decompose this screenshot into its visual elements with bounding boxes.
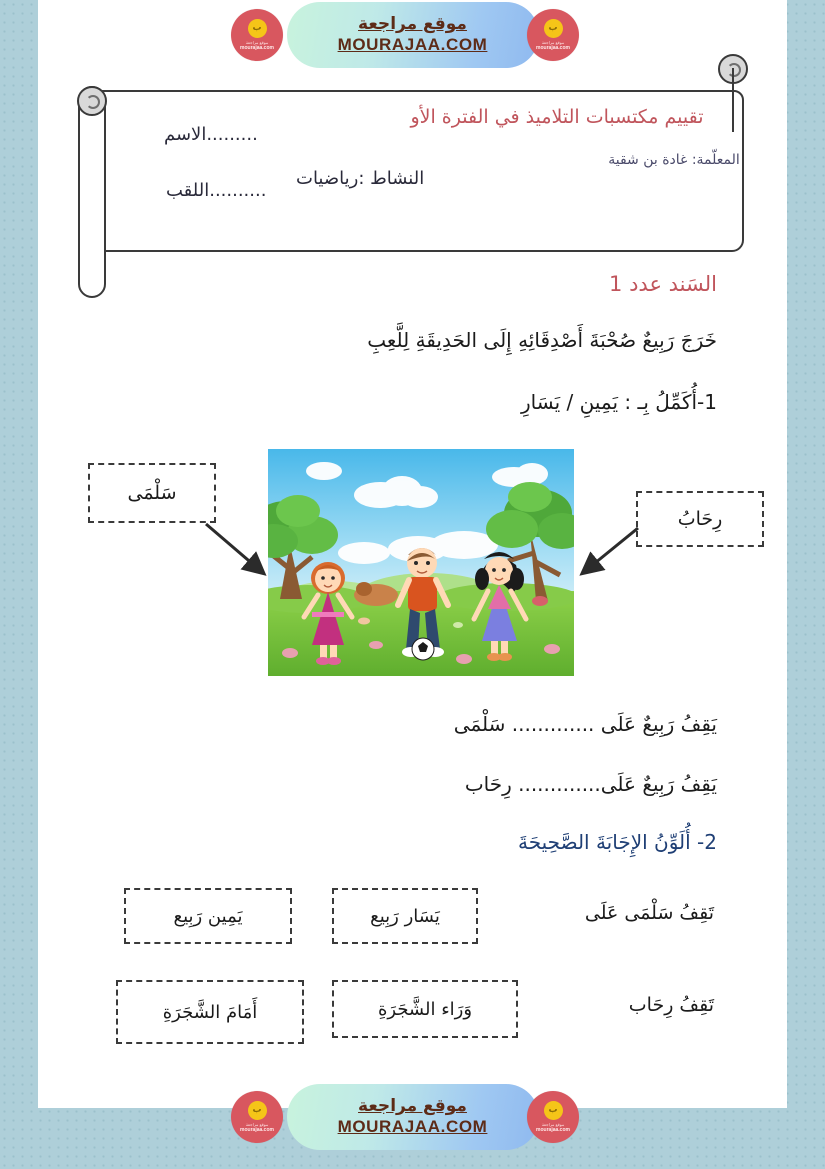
- teacher-name: المعلّمة: غادة بن شقية: [608, 150, 740, 172]
- promo-banner-bottom: ب موقع مراجعة mourajaa.com موقع مراجعة M…: [0, 1082, 825, 1152]
- logo-emblem-icon: ب: [248, 19, 267, 38]
- choice-prompt-1: تَقِفُ سَلْمَى عَلَى: [585, 902, 714, 924]
- choice-option-1b[interactable]: يَمِين رَبِيع: [124, 888, 292, 944]
- header-scroll-frame: تقييم مكتسبات التلاميذ في الفترة الأو ال…: [94, 90, 744, 252]
- header-content: تقييم مكتسبات التلاميذ في الفترة الأو ال…: [96, 92, 742, 250]
- choice-prompt-2: تَقِفُ رِحَاب: [629, 994, 714, 1016]
- promo-arabic-label-bottom: موقع مراجعة: [358, 1097, 467, 1116]
- label-box-salma[interactable]: سَلْمَى: [88, 463, 216, 523]
- promo-pill-top[interactable]: موقع مراجعة MOURAJAA.COM: [287, 2, 539, 68]
- scroll-spine-left: [78, 86, 106, 298]
- activity-label: النشاط :رياضيات: [296, 168, 424, 189]
- question-1-prompt: 1-أُكَمِّلُ بِـ : يَمِينِ / يَسَارِ: [521, 390, 717, 414]
- promo-site-link-top[interactable]: MOURAJAA.COM: [338, 35, 488, 55]
- scroll-curl-icon-left: [77, 86, 107, 116]
- student-surname-field-label[interactable]: ..........اللقب: [166, 180, 266, 201]
- promo-banner-top: ب موقع مراجعة mourajaa.com موقع مراجعة M…: [0, 0, 825, 70]
- header-scroll: تقييم مكتسبات التلاميذ في الفترة الأو ال…: [72, 82, 754, 264]
- scroll-tail-right: [732, 68, 734, 132]
- logo-caption-left: موقع مراجعة mourajaa.com: [240, 40, 274, 52]
- choice-option-2a[interactable]: وَرَاء الشَّجَرَةِ: [332, 980, 518, 1038]
- promo-pill-bottom[interactable]: موقع مراجعة MOURAJAA.COM: [287, 1084, 539, 1150]
- choice-option-2b[interactable]: أَمَامَ الشَّجَرَةِ: [116, 980, 304, 1044]
- logo-caption-right: موقع مراجعة mourajaa.com: [536, 1122, 570, 1134]
- arrow-icon-rihab: [576, 520, 646, 592]
- student-name-field-label[interactable]: .........الاسم: [164, 124, 258, 145]
- source-sentence: خَرَجَ رَبِيعٌ صُحْبَةَ أَصْدِقَائِهِ إِ…: [367, 328, 717, 352]
- fill-blank-line-1[interactable]: يَقِفُ رَبِيعٌ عَلَى ............. سَلْم…: [454, 712, 717, 736]
- mourajaa-logo-icon-left: ب موقع مراجعة mourajaa.com: [231, 1091, 283, 1143]
- mourajaa-logo-icon-left: ب موقع مراجعة mourajaa.com: [231, 9, 283, 61]
- fill-blank-line-2[interactable]: يَقِفُ رَبِيعٌ عَلَى............. رِحَاب: [465, 772, 717, 796]
- choice-option-1a[interactable]: يَسَار رَبِيع: [332, 888, 478, 944]
- question-2-prompt: 2- أُلَوِّنُ الإِجَابَةَ الصَّحِيحَةَ: [518, 830, 717, 854]
- park-scene-illustration: [268, 449, 574, 676]
- mourajaa-logo-icon-right: ب موقع مراجعة mourajaa.com: [527, 9, 579, 61]
- choice-row: تَقِفُ سَلْمَى عَلَى يَسَار رَبِيع يَمِي…: [114, 888, 714, 944]
- logo-emblem-icon: ب: [248, 1101, 267, 1120]
- choice-row: تَقِفُ رِحَاب وَرَاء الشَّجَرَةِ أَمَامَ…: [114, 980, 714, 1036]
- promo-site-link-bottom[interactable]: MOURAJAA.COM: [338, 1117, 488, 1137]
- logo-caption-right: موقع مراجعة mourajaa.com: [536, 40, 570, 52]
- mourajaa-logo-icon-right: ب موقع مراجعة mourajaa.com: [527, 1091, 579, 1143]
- logo-emblem-icon: ب: [544, 19, 563, 38]
- logo-caption-left: موقع مراجعة mourajaa.com: [240, 1122, 274, 1134]
- source-heading: السَند عدد 1: [609, 272, 717, 296]
- label-box-rihab[interactable]: رِحَابُ: [636, 491, 764, 547]
- page-title: تقييم مكتسبات التلاميذ في الفترة الأو: [392, 106, 722, 130]
- logo-emblem-icon: ب: [544, 1101, 563, 1120]
- promo-arabic-label-top: موقع مراجعة: [358, 15, 467, 34]
